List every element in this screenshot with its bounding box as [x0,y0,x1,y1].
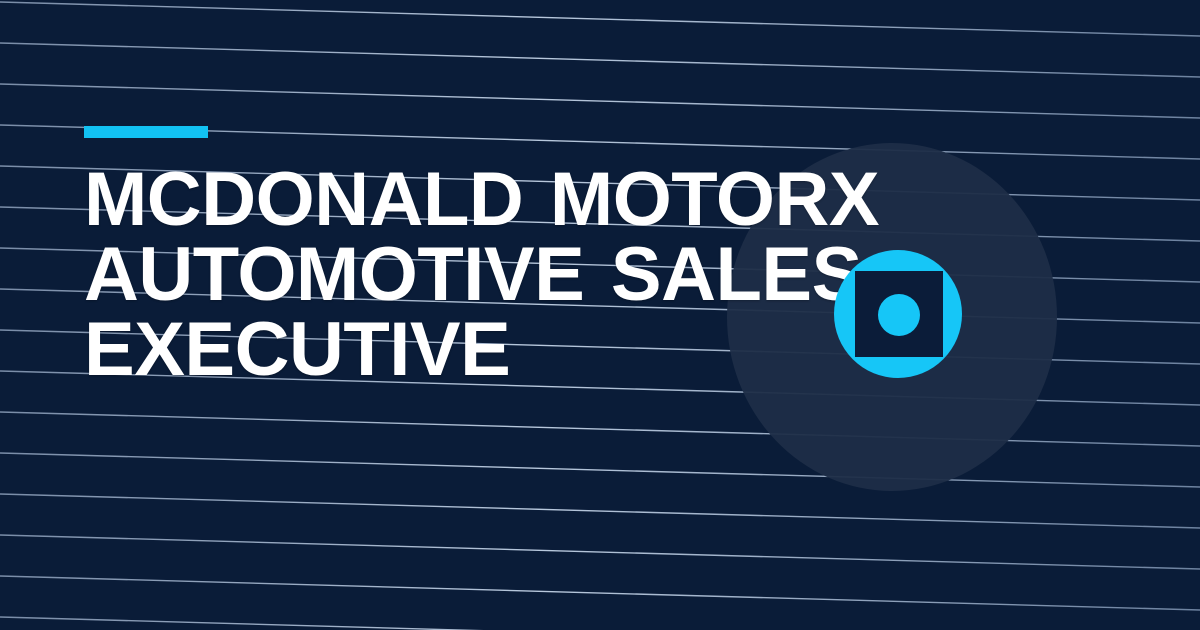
brand-logo-icon [834,250,962,378]
accent-bar [84,126,208,138]
logo-center-dot [878,294,920,336]
social-share-banner: MCDONALD MOTORX AUTOMOTIVE SALES EXECUTI… [0,0,1200,630]
